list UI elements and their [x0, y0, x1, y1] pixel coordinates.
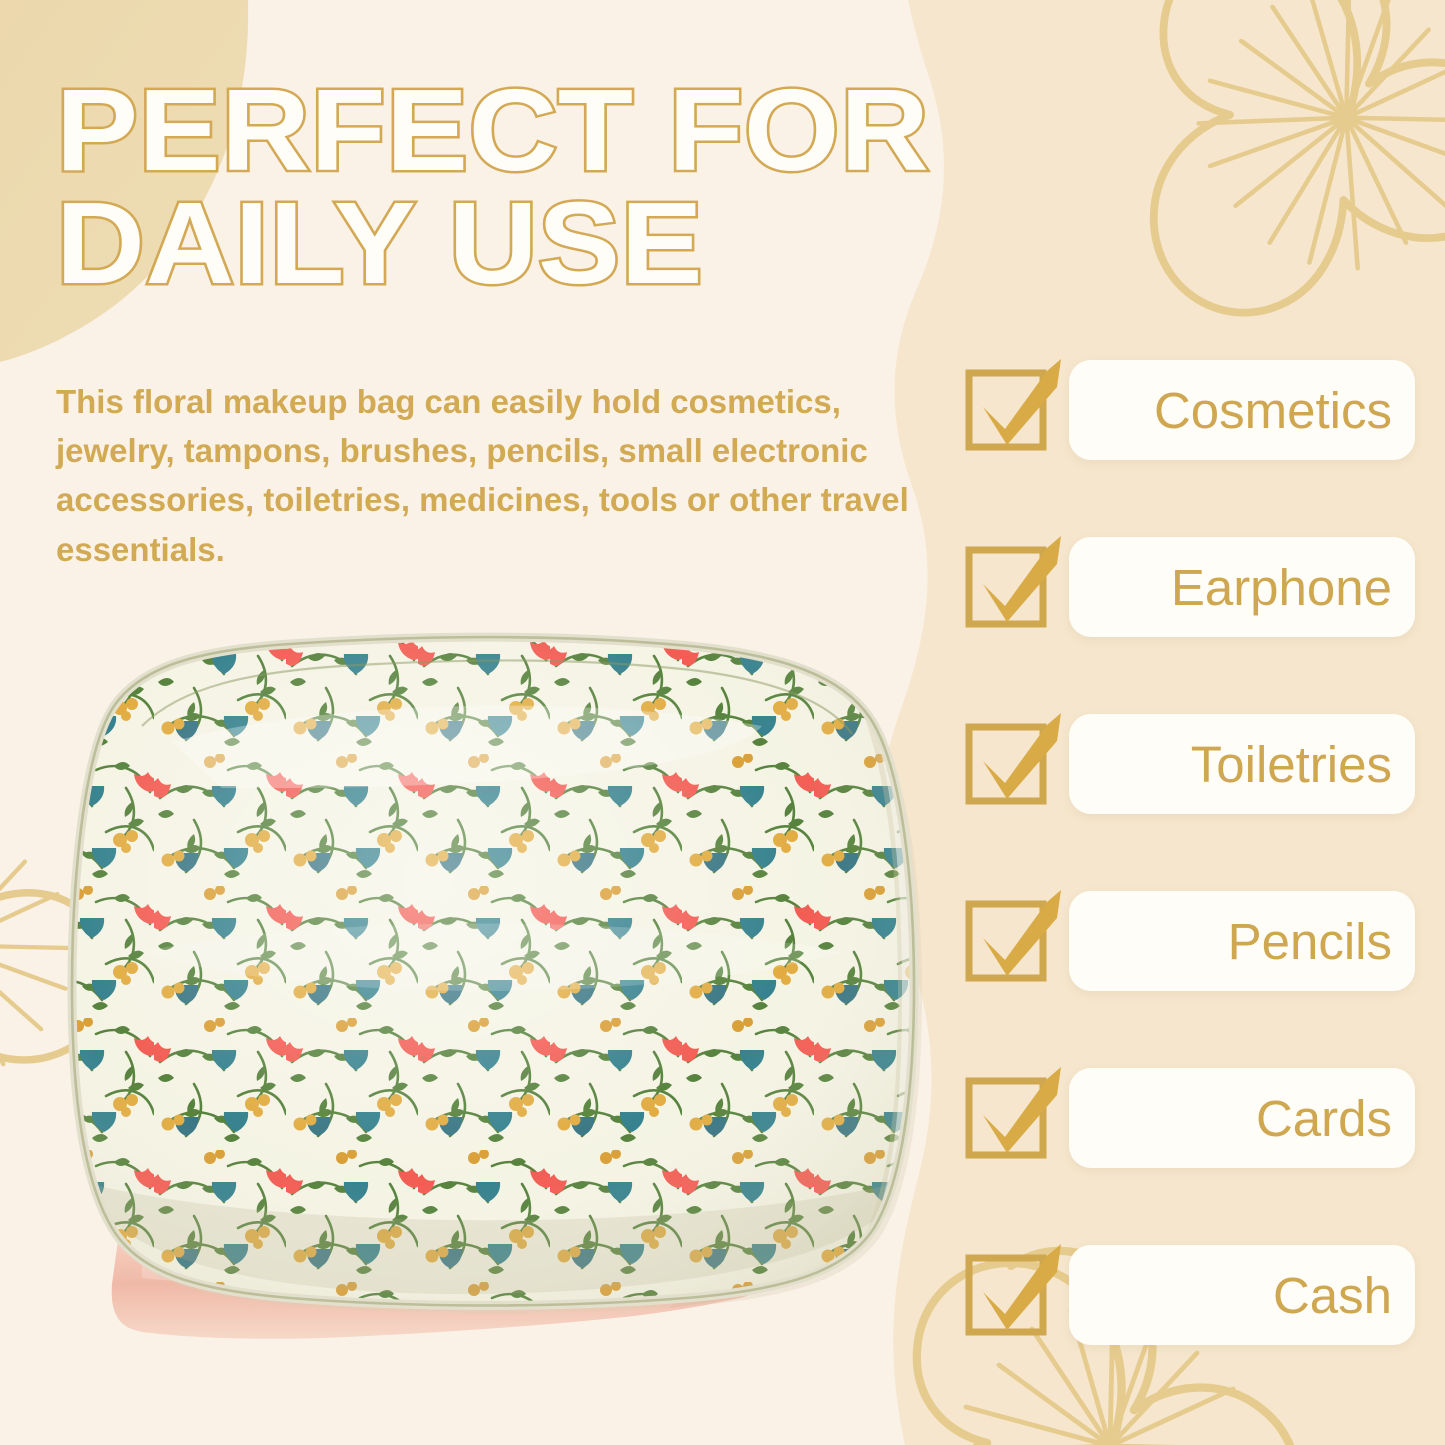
- product-marketing-image: PERFECT FOR DAILY USE This floral makeup…: [0, 0, 1445, 1445]
- checklist-item-label: Cards: [1256, 1093, 1392, 1144]
- checklist-pill[interactable]: Cash: [1069, 1245, 1415, 1345]
- makeup-bag: [62, 632, 932, 1322]
- checklist-item-label: Toiletries: [1191, 739, 1392, 790]
- checklist-pill[interactable]: Cards: [1069, 1068, 1415, 1168]
- checklist-item-label: Earphone: [1171, 562, 1392, 613]
- checkbox-checked-icon[interactable]: [965, 902, 1043, 980]
- checklist-pill[interactable]: Pencils: [1069, 891, 1415, 991]
- checklist-item-label: Cash: [1273, 1270, 1392, 1321]
- checklist-item-cosmetics[interactable]: Cosmetics: [965, 336, 1415, 484]
- checklist-pill[interactable]: Cosmetics: [1069, 360, 1415, 460]
- checkbox-checked-icon[interactable]: [965, 1256, 1043, 1334]
- checklist-item-cash[interactable]: Cash: [965, 1221, 1415, 1369]
- product-description: This floral makeup bag can easily hold c…: [56, 378, 943, 575]
- page-title: PERFECT FOR DAILY USE: [56, 74, 1010, 299]
- checkbox-checked-icon[interactable]: [965, 1079, 1043, 1157]
- checklist-item-cards[interactable]: Cards: [965, 1044, 1415, 1192]
- checklist-item-label: Pencils: [1228, 916, 1392, 967]
- checkbox-checked-icon[interactable]: [965, 725, 1043, 803]
- checkbox-checked-icon[interactable]: [965, 548, 1043, 626]
- product-photo-bag-in-hand: [22, 622, 952, 1342]
- checklist-pill[interactable]: Earphone: [1069, 537, 1415, 637]
- checklist-item-pencils[interactable]: Pencils: [965, 867, 1415, 1015]
- feature-checklist: Cosmetics Earphone Toiletr: [965, 336, 1415, 1369]
- checklist-item-toiletries[interactable]: Toiletries: [965, 690, 1415, 838]
- checklist-item-label: Cosmetics: [1154, 385, 1392, 436]
- checklist-pill[interactable]: Toiletries: [1069, 714, 1415, 814]
- checklist-item-earphone[interactable]: Earphone: [965, 513, 1415, 661]
- checkbox-checked-icon[interactable]: [965, 371, 1043, 449]
